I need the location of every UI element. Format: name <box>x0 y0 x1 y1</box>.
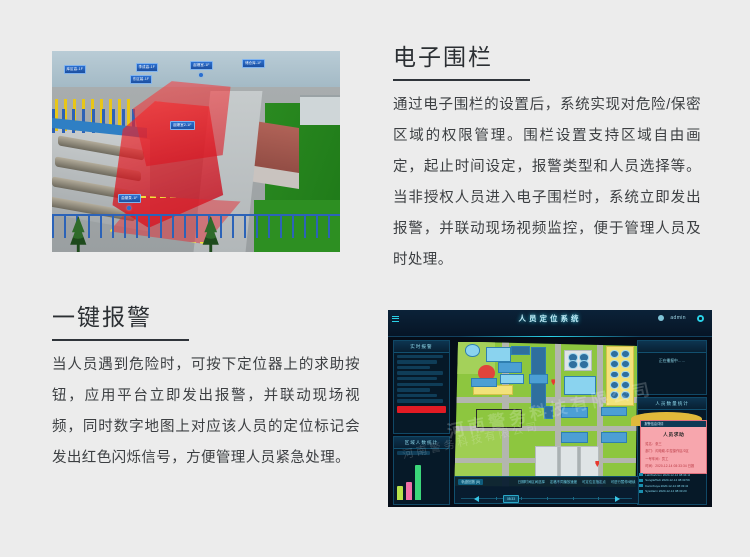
log-row[interactable]: SysAlarm 2020-12-14 08:33:20 <box>639 489 707 493</box>
log-text: SysAlarm 2020-12-14 08:33:20 <box>645 489 687 493</box>
scene-tag[interactable]: 库区高-1F <box>64 65 86 74</box>
log-text: KarmXiuya 2020-12-14 08:33:41 <box>645 484 688 488</box>
map-tank <box>610 371 619 379</box>
list-item[interactable] <box>397 377 437 380</box>
map-tank <box>610 381 619 389</box>
map-tank <box>610 350 619 358</box>
log-text: LabWork/Lin 2020-12-14 08:34:11 <box>645 473 690 477</box>
alarm-highlight-row[interactable] <box>397 406 446 413</box>
site-map[interactable] <box>454 342 637 488</box>
map-tank <box>621 360 630 368</box>
timeline-tick <box>547 497 548 500</box>
scene-marker-pin[interactable] <box>199 73 203 77</box>
map-building[interactable] <box>529 374 547 385</box>
playback-timeline[interactable]: 轨迹回放 (8) 日期时间区间选择 定格不同播放速度 可定位至指定点 可进行暂停… <box>454 476 639 504</box>
map-building[interactable] <box>511 346 529 355</box>
map-tank <box>621 381 630 389</box>
bar <box>415 465 421 500</box>
list-item[interactable] <box>397 383 443 386</box>
scene-tag[interactable]: 起爆室2-1F <box>170 121 195 130</box>
list-item[interactable] <box>397 360 437 363</box>
electronic-fence-screenshot: 库区高-1F 李成高-1F 东区装-1F 起爆室-1F 储仓库-1F 起爆室2-… <box>52 51 340 252</box>
scene-tag[interactable]: 储仓库-1F <box>242 59 264 68</box>
feature-block-electronic-fence: 电子围栏 通过电子围栏的设置后，系统实现对危险/保密区域的权限管理。围栏设置支持… <box>393 45 701 276</box>
scene-building-far-right <box>300 95 340 125</box>
alert-log-list[interactable]: LabWork/Lin 2020-12-14 08:34:11 Song&Zhu… <box>639 473 707 505</box>
alert-popup-heading: 人员求助 <box>641 431 706 438</box>
map-building[interactable] <box>500 374 524 385</box>
panel-header: 实时报警 <box>394 341 449 353</box>
timeline-thumb[interactable]: 08:33 <box>503 495 519 503</box>
timeline-link[interactable]: 日期时间区间选择 <box>518 479 545 484</box>
list-item[interactable] <box>397 371 443 374</box>
list-item[interactable] <box>397 355 443 358</box>
bar <box>397 486 403 500</box>
map-building[interactable] <box>486 347 512 362</box>
list-item[interactable] <box>397 399 443 402</box>
log-row[interactable]: LabWork/Lin 2020-12-14 08:34:11 <box>639 473 707 477</box>
list-item[interactable] <box>397 394 437 397</box>
feature-block-one-key-alarm: 一键报警 当人员遇到危险时，可按下定位器上的求助按钮，应用平台立即发出报警，并联… <box>52 305 360 474</box>
timeline-link[interactable]: 可进行暂停/继续 <box>611 479 636 484</box>
timeline-tick <box>521 497 522 500</box>
dashboard-user-label[interactable]: admin <box>670 315 686 321</box>
map-building[interactable] <box>601 407 627 416</box>
log-row[interactable]: KarmXiuya 2020-12-14 08:33:41 <box>639 484 707 488</box>
map-building[interactable] <box>564 376 595 394</box>
track-playback-chip[interactable]: 轨迹回放 (8) <box>458 479 483 485</box>
scene-tag[interactable]: 东区装-1F <box>130 75 152 84</box>
personnel-positioning-screenshot: 人员定位系统 admin 实时报警 区域人数统计 <box>388 310 712 507</box>
map-warehouse-divider <box>577 446 581 477</box>
scene-tag[interactable]: 曲罐泵-1F <box>118 194 140 203</box>
feature-title-one-key-alarm: 一键报警 <box>52 305 360 330</box>
alert-field-time: 时间：2020-12-14 08:33:34 日报 <box>645 463 706 468</box>
bar <box>406 482 412 500</box>
map-warehouse-divider <box>557 446 561 477</box>
previous-icon[interactable] <box>474 496 479 502</box>
alert-popup[interactable]: 报警信息详情 人员求助 姓名：张三 部门：闪电硫-中控操作区/2区 一号车间：员… <box>640 420 707 473</box>
alert-field-department: 部门：闪电硫-中控操作区/2区 <box>645 448 706 453</box>
map-building[interactable] <box>465 344 480 356</box>
map-tank <box>621 391 630 399</box>
timeline-link[interactable]: 定格不同播放速度 <box>550 479 577 484</box>
broadcast-status-text: 正在播报中…… <box>638 359 706 364</box>
map-warehouse[interactable] <box>535 446 599 477</box>
page-root: 电子围栏 通过电子围栏的设置后，系统实现对危险/保密区域的权限管理。围栏设置支持… <box>0 0 750 557</box>
feature-body-electronic-fence: 通过电子围栏的设置后，系统实现对危险/保密区域的权限管理。围栏设置支持区域自由画… <box>393 90 701 276</box>
timeline-links: 日期时间区间选择 定格不同播放速度 可定位至指定点 可进行暂停/继续 <box>518 479 636 484</box>
timeline-top-row: 轨迹回放 (8) 日期时间区间选择 定格不同播放速度 可定位至指定点 可进行暂停… <box>455 478 638 485</box>
gear-icon[interactable] <box>697 315 704 322</box>
timeline-tick <box>573 497 574 500</box>
title-divider-one-key-alarm <box>52 339 189 341</box>
alert-field-name: 姓名：张三 <box>645 441 706 446</box>
feature-title-electronic-fence: 电子围栏 <box>393 45 701 70</box>
next-icon[interactable] <box>615 496 620 502</box>
map-tank <box>568 360 578 369</box>
fence-3d-scene: 库区高-1F 李成高-1F 东区装-1F 起爆室-1F 储仓库-1F 起爆室2-… <box>52 51 340 252</box>
log-row[interactable]: Song&Zhuh 2020-12-14 08:33:59 <box>639 478 707 482</box>
map-building[interactable] <box>544 406 553 420</box>
panel-broadcast: 正在播报中…… <box>637 340 707 395</box>
panel-realtime-alarm: 实时报警 <box>393 340 450 435</box>
dashboard-root: 人员定位系统 admin 实时报警 区域人数统计 <box>388 310 712 507</box>
map-tank <box>610 360 619 368</box>
map-building[interactable] <box>471 378 497 387</box>
scene-marker-pin[interactable] <box>127 206 131 210</box>
alert-popup-titlebar: 报警信息详情 <box>641 421 706 427</box>
alert-field-role: 一号车间：员工 <box>645 456 706 461</box>
user-icon <box>658 315 664 321</box>
map-building[interactable] <box>561 407 589 418</box>
title-divider-electronic-fence <box>393 79 530 81</box>
scene-perimeter-fence <box>52 214 340 238</box>
map-tank <box>621 350 630 358</box>
map-building[interactable] <box>561 432 589 443</box>
scene-tag[interactable]: 起爆室-1F <box>190 61 212 70</box>
timeline-tick <box>496 497 497 500</box>
timeline-tick <box>598 497 599 500</box>
bar-chart <box>397 461 421 500</box>
panel-header <box>638 341 706 353</box>
map-tank <box>610 391 619 399</box>
scene-tag[interactable]: 李成高-1F <box>136 63 158 72</box>
log-text: Song&Zhuh 2020-12-14 08:33:59 <box>645 478 690 482</box>
list-item[interactable] <box>397 366 430 369</box>
log-tag-icon <box>639 479 643 482</box>
list-item[interactable] <box>397 388 430 391</box>
timeline-link[interactable]: 可定位至指定点 <box>582 479 606 484</box>
map-tank <box>621 371 630 379</box>
map-tank <box>579 360 589 369</box>
feature-body-one-key-alarm: 当人员遇到危险时，可按下定位器上的求助按钮，应用平台立即发出报警，并联动现场视频… <box>52 350 360 474</box>
map-building[interactable] <box>601 432 627 443</box>
log-tag-icon <box>639 484 643 487</box>
log-tag-icon <box>639 490 643 493</box>
panel-header: 人员数量统计 <box>638 398 706 410</box>
map-building[interactable] <box>498 362 522 373</box>
log-tag-icon <box>639 473 643 476</box>
dashboard-header: 人员定位系统 admin <box>388 310 712 337</box>
